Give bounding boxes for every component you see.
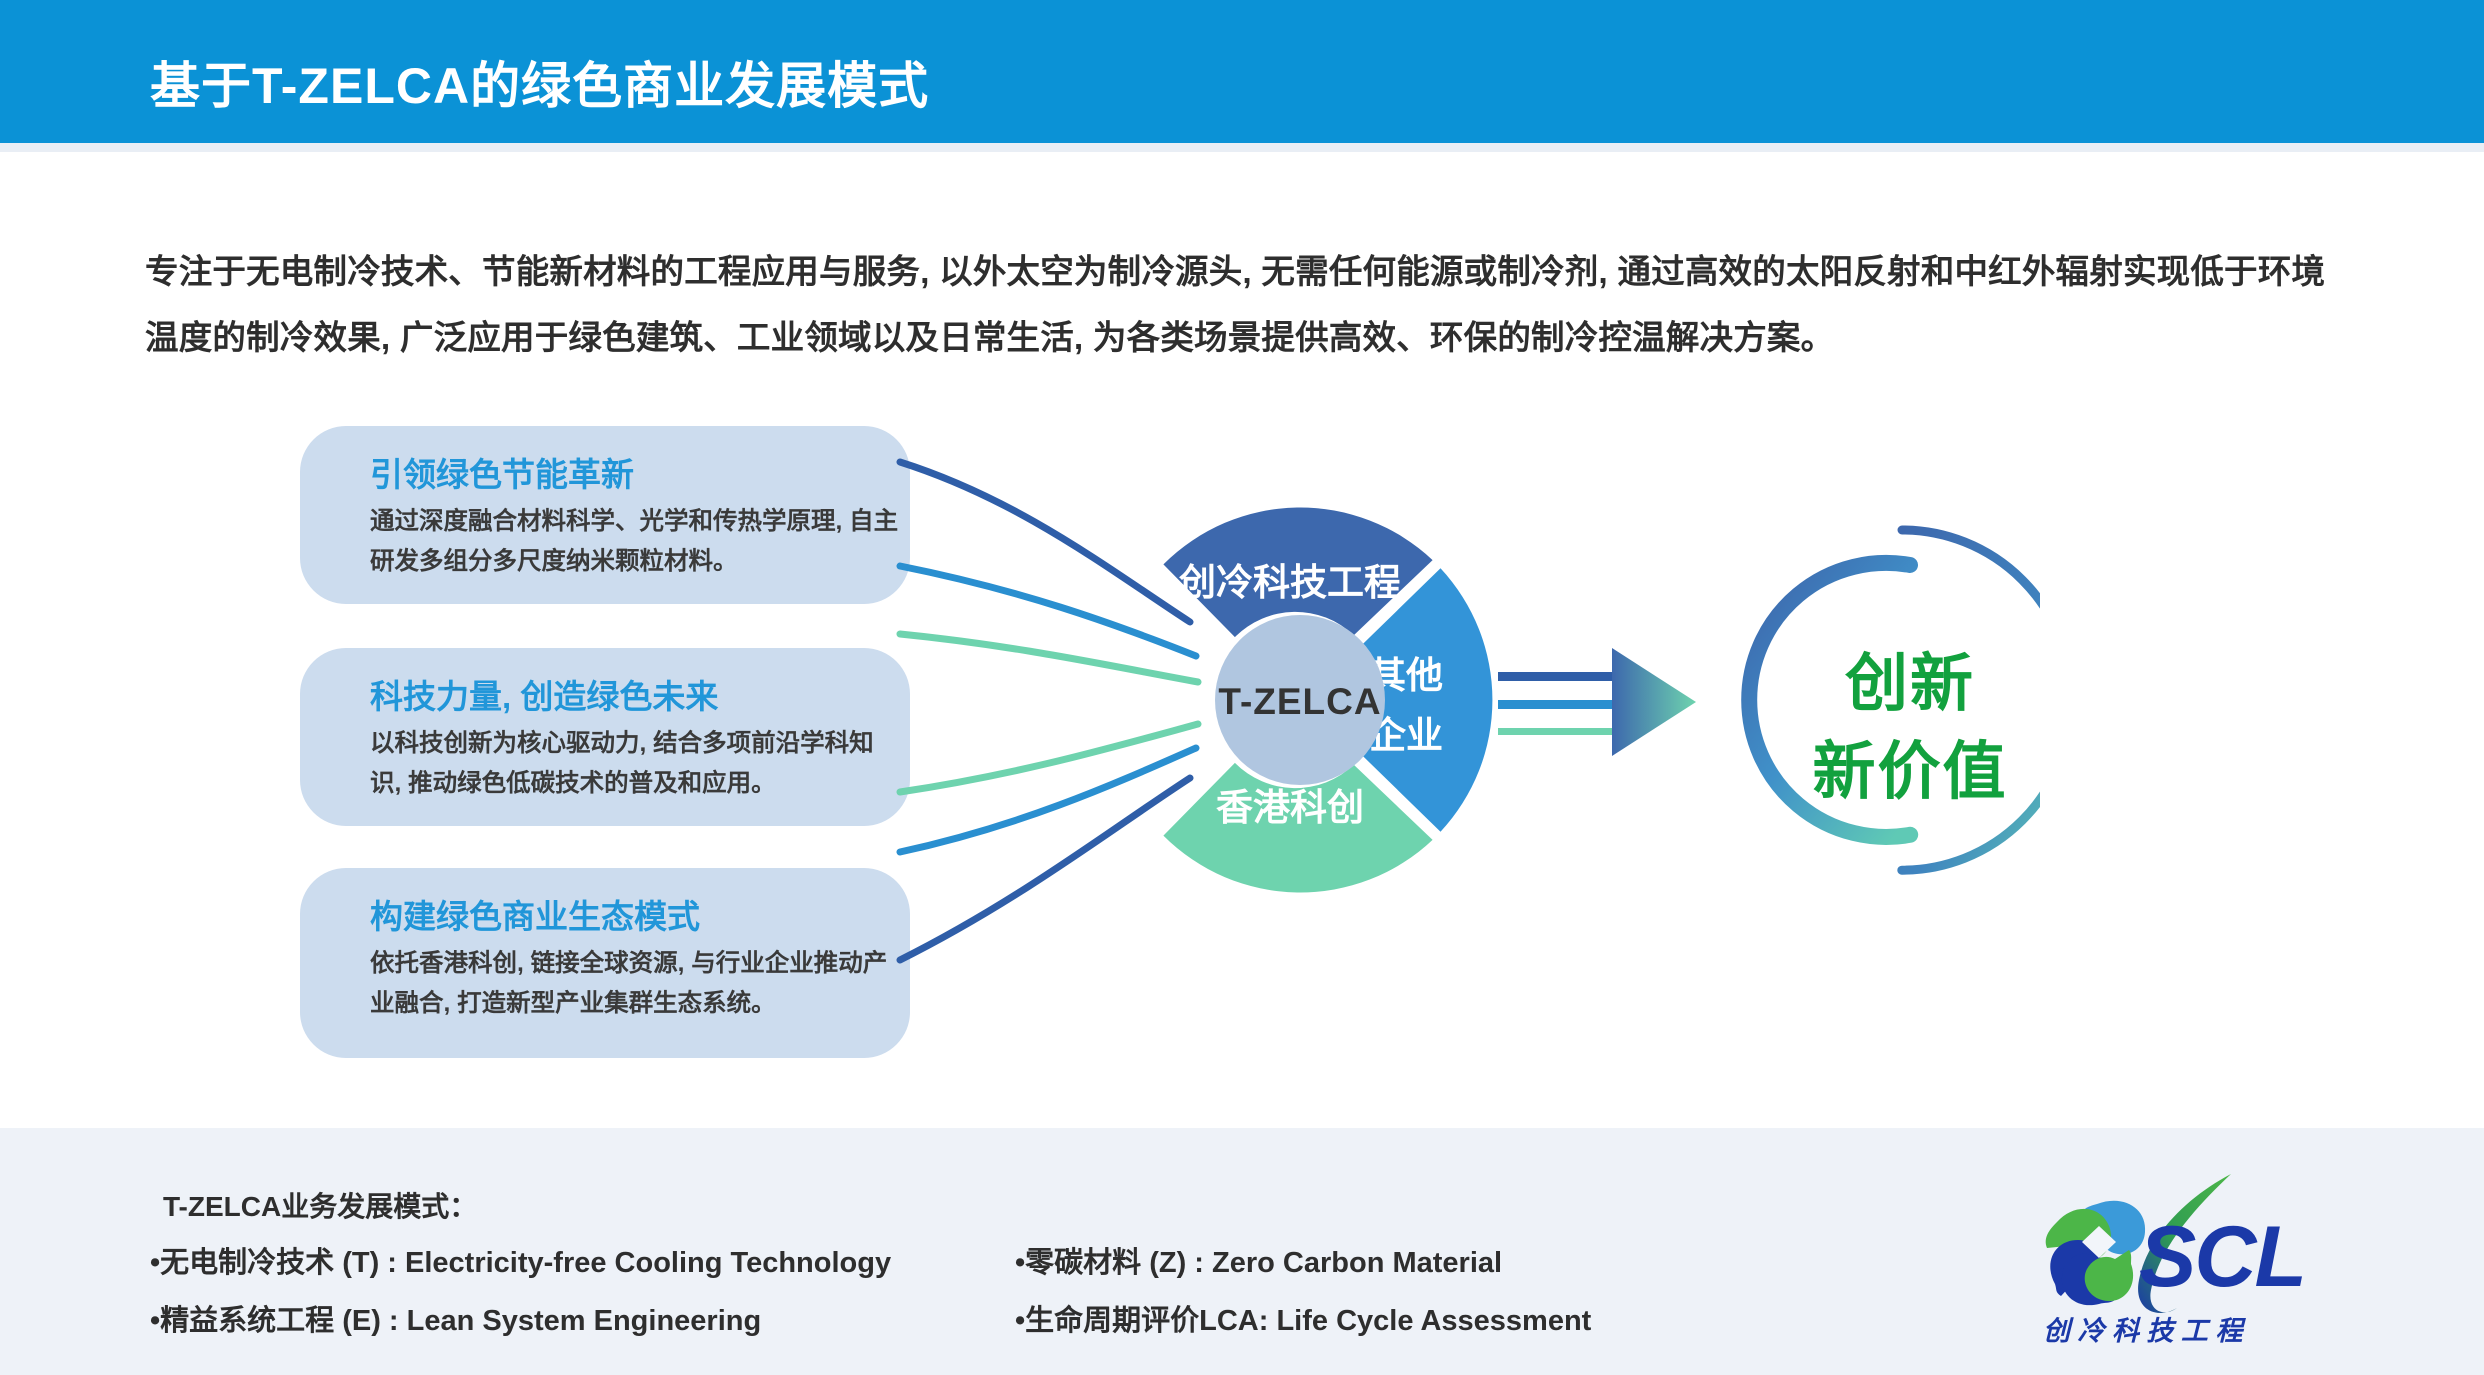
logo-tagline: 创 冷 科 技 工 程 — [2043, 1316, 2247, 1346]
connector-line-6 — [900, 778, 1190, 960]
info-card-3-title: 构建绿色商业生态模式 — [370, 890, 700, 938]
arrow-head-icon — [1612, 648, 1696, 756]
value-circle-line1: 创新 — [1700, 640, 2120, 728]
connector-lines — [900, 462, 1198, 960]
connector-line-4 — [900, 724, 1198, 792]
arrow-line-1 — [1498, 672, 1620, 681]
info-card-3[interactable]: 构建绿色商业生态模式 依托香港科创, 链接全球资源, 与行业企业推动产业融合, … — [300, 868, 910, 1058]
infographic-page: 基于T-ZELCA的绿色商业发展模式 专注于无电制冷技术、节能新材料的工程应用与… — [0, 0, 2484, 1375]
flow-arrow — [1498, 648, 1696, 756]
info-card-2-body: 以科技创新为核心驱动力, 结合多项前沿学科知识, 推动绿色低碳技术的普及和应用。 — [370, 724, 900, 804]
hub-circle[interactable]: T-ZELCA — [1215, 615, 1385, 785]
company-logo[interactable]: SCL 创 冷 科 技 工 程 — [2035, 1168, 2435, 1353]
logo-wordmark: SCL — [2139, 1209, 2305, 1305]
info-card-1[interactable]: 引领绿色节能革新 通过深度融合材料科学、光学和传热学原理, 自主研发多组分多尺度… — [300, 426, 910, 604]
info-card-1-body: 通过深度融合材料科学、光学和传热学原理, 自主研发多组分多尺度纳米颗粒材料。 — [370, 502, 900, 582]
footer-item-t: •无电制冷技术 (T) : Electricity-free Cooling T… — [150, 1239, 891, 1281]
logo-pinwheel-icon — [2046, 1201, 2145, 1305]
value-circle-text: 创新 新价值 — [1700, 640, 2120, 816]
footer-heading: T-ZELCA业务发展模式： — [163, 1185, 477, 1225]
hub-label: T-ZELCA — [1218, 681, 1381, 722]
connector-line-2 — [900, 566, 1196, 656]
arrow-line-3 — [1498, 728, 1620, 735]
segment-chuangleng-label: 创冷科技工程 — [1178, 562, 1401, 603]
info-card-2[interactable]: 科技力量, 创造绿色未来 以科技创新为核心驱动力, 结合多项前沿学科知识, 推动… — [300, 648, 910, 826]
value-circle-line2: 新价值 — [1700, 728, 2120, 816]
intro-paragraph: 专注于无电制冷技术、节能新材料的工程应用与服务, 以外太空为制冷源头, 无需任何… — [145, 240, 2345, 372]
info-card-3-body: 依托香港科创, 链接全球资源, 与行业企业推动产业融合, 打造新型产业集群生态系… — [370, 944, 900, 1024]
footer-item-z: •零碳材料 (Z) : Zero Carbon Material — [1015, 1239, 1502, 1281]
footer-item-e: •精益系统工程 (E) : Lean System Engineering — [150, 1297, 761, 1339]
connector-line-1 — [900, 462, 1190, 622]
arrow-line-2 — [1498, 700, 1620, 709]
footer-item-lca: •生命周期评价LCA: Life Cycle Assessment — [1015, 1297, 1591, 1339]
segment-hk-innovation-label: 香港科创 — [1216, 787, 1364, 828]
info-card-1-title: 引领绿色节能革新 — [370, 448, 634, 496]
info-card-2-title: 科技力量, 创造绿色未来 — [370, 670, 718, 718]
header-divider — [0, 143, 2484, 152]
page-title: 基于T-ZELCA的绿色商业发展模式 — [150, 46, 929, 118]
